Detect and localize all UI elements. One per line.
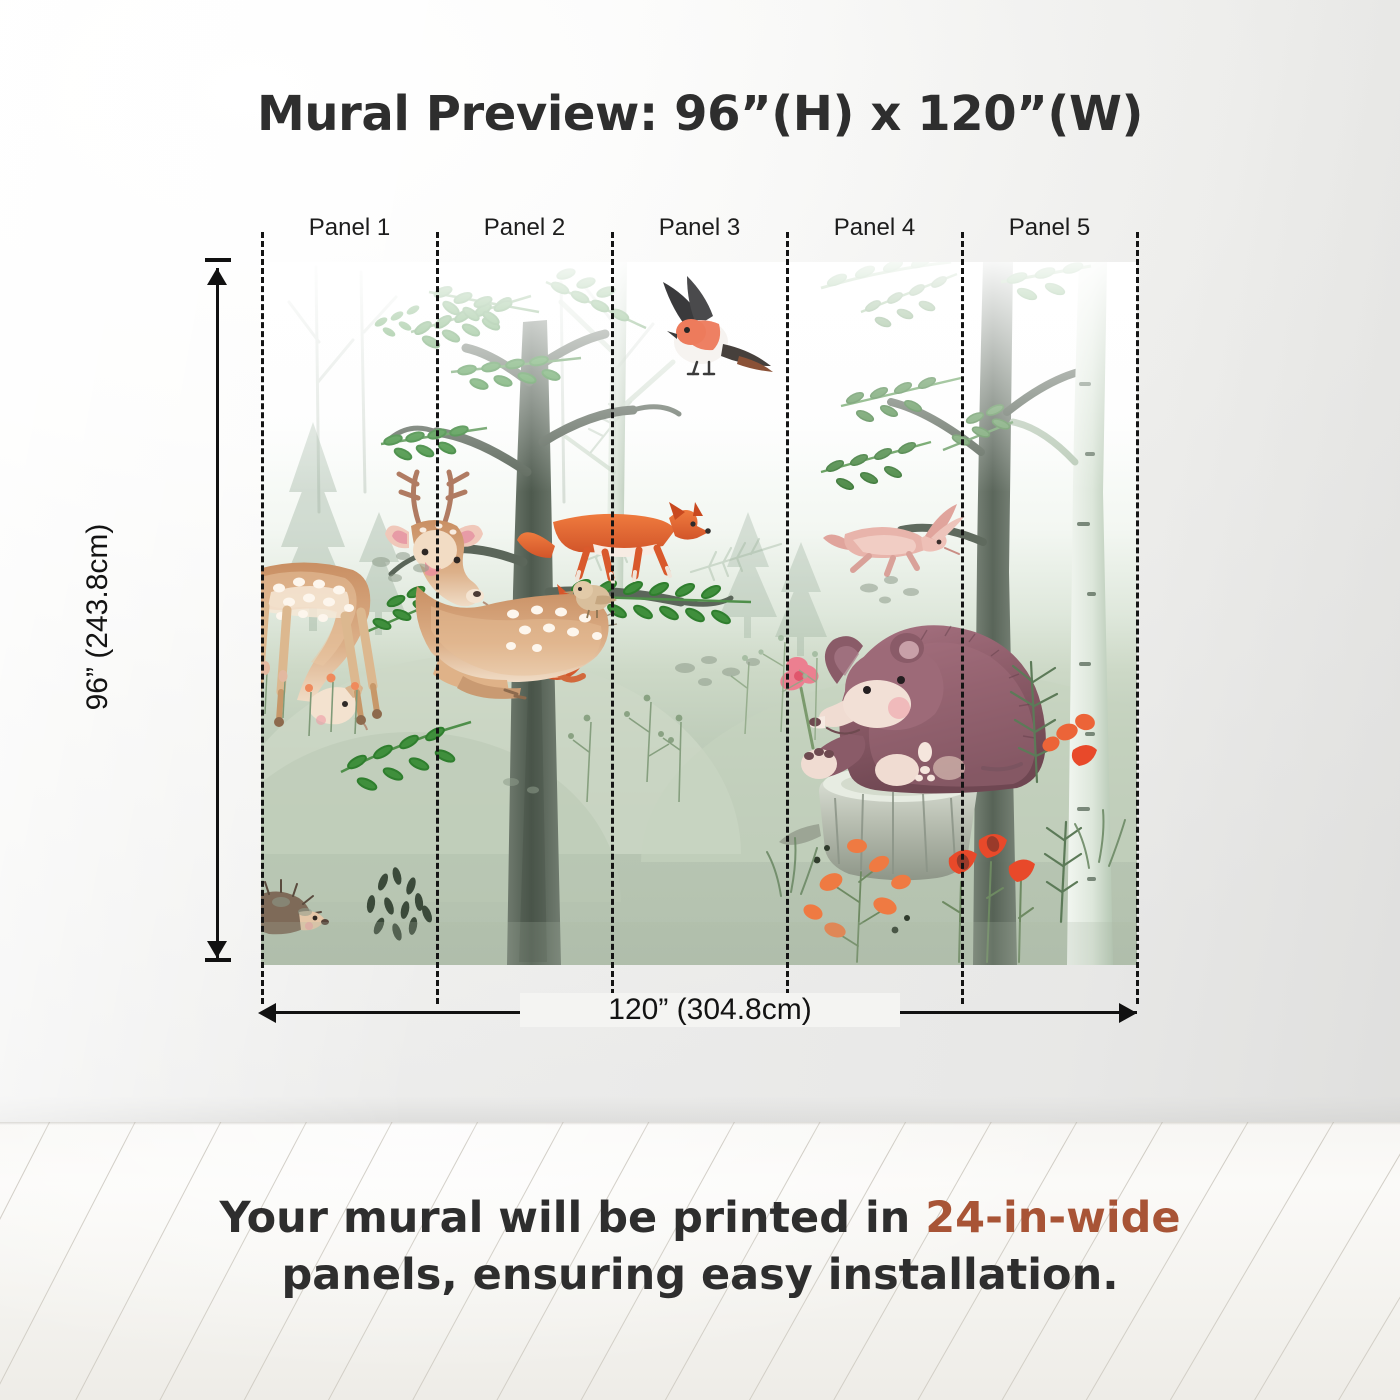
panel-divider-4 [961,232,964,1004]
caption-accent-text: 24-in-wide [925,1193,1180,1243]
panel-divider-2 [611,232,614,1004]
width-arrow-right-icon [1119,1003,1137,1023]
mural-artwork-svg [261,262,1137,965]
page-title: Mural Preview: 96”(H) x 120”(W) [0,86,1400,142]
mural-preview-image [261,262,1137,965]
caption-line2: panels, ensuring easy installation. [281,1250,1118,1300]
panel-label-1: Panel 1 [262,214,437,242]
panel-label-3: Panel 3 [612,214,787,242]
panel-label-2: Panel 2 [437,214,612,242]
wall-baseboard-shadow [0,1096,1400,1122]
width-arrow-left-icon [258,1003,276,1023]
panel-label-4: Panel 4 [787,214,962,242]
height-arrow-up-icon [207,268,227,285]
width-dimension-label: 120” (304.8cm) [520,993,900,1027]
grazing-fawn [261,562,382,730]
height-arrow-down-icon [207,941,227,958]
installation-caption: Your mural will be printed in 24-in-wide… [100,1190,1300,1304]
height-dimension-cap-top [205,258,231,262]
panel-divider-0 [261,232,264,1004]
height-dimension-line [216,268,219,958]
panel-divider-3 [786,232,789,1004]
panel-divider-1 [436,232,439,1004]
panel-label-5: Panel 5 [962,214,1137,242]
height-dimension-cap-bottom [205,958,231,962]
leaping-rabbit [823,504,965,574]
seated-deer [385,472,617,699]
height-dimension-label: 96” (243.8cm) [81,457,115,777]
floor-wall-joint [0,1122,1400,1125]
caption-line1-prefix: Your mural will be printed in [219,1193,925,1243]
panel-divider-5 [1136,232,1139,1004]
